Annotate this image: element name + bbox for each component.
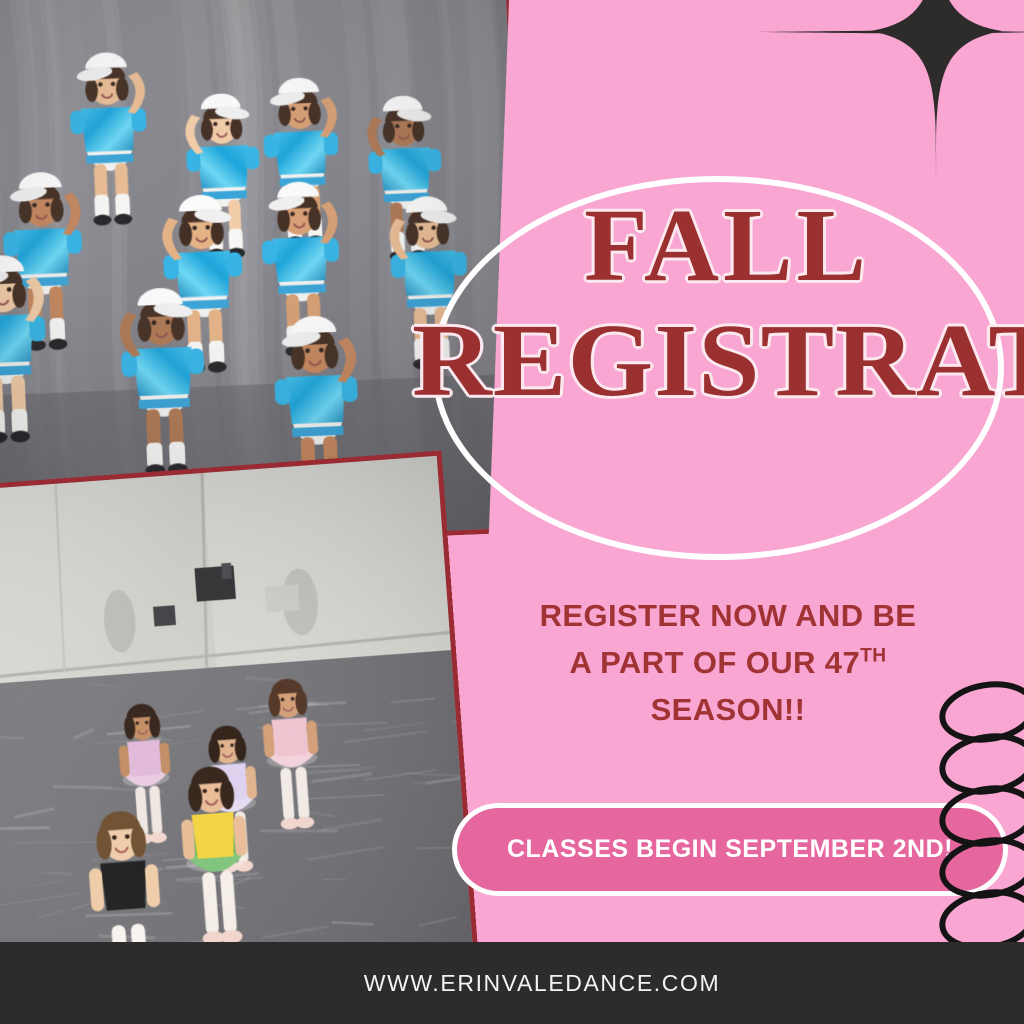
headline-line-1: FALL [430,196,1024,297]
page-title: FALL REGISTRATION [430,196,1024,412]
footer-photo-overlap [0,942,430,1024]
ordinal-suffix: TH [860,646,886,667]
body-line-2-text: A PART OF OUR 47 [570,645,861,680]
oval-outline [432,176,1004,560]
studio-photo-ballet-class [0,450,485,1024]
body-line-3: SEASON!! [452,686,1004,733]
poster-canvas: FALL REGISTRATION REGISTER NOW AND BE A … [0,0,1024,1024]
body-line-2: A PART OF OUR 47TH [452,639,1004,686]
headline-line-2: REGISTRATION [412,311,1024,412]
four-point-sparkle-icon [740,0,1024,180]
body-copy: REGISTER NOW AND BE A PART OF OUR 47TH S… [452,592,1004,733]
classes-begin-cta[interactable]: CLASSES BEGIN SEPTEMBER 2ND! [452,803,1008,896]
body-line-1: REGISTER NOW AND BE [452,592,1004,639]
cta-label: CLASSES BEGIN SEPTEMBER 2ND! [507,835,953,864]
